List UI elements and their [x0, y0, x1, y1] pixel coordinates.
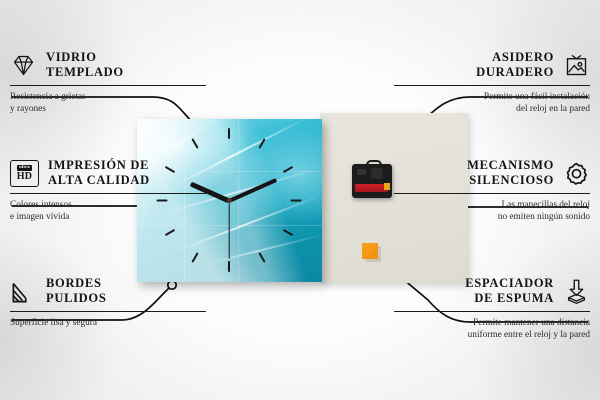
- feature-desc-line1: Resistencia a grietas: [10, 91, 206, 104]
- feature-desc-line2: e imagen vívida: [10, 211, 206, 224]
- feature-divider: [10, 85, 206, 86]
- feature-desc-line1: Las manecillas del reloj: [394, 199, 590, 212]
- feature-divider: [394, 193, 590, 194]
- gear-icon: [563, 160, 590, 187]
- feature-title-line1: IMPRESIÓN DE: [48, 158, 150, 173]
- feature-desc-line2: uniforme entre el reloj y la pared: [394, 329, 590, 342]
- feature-title-line1: VIDRIO: [46, 50, 124, 65]
- feature-mecanismo-silencioso: MECANISMO SILENCIOSO Las manecillas del …: [394, 158, 590, 224]
- feature-title-line2: DE ESPUMA: [465, 291, 554, 306]
- feature-vidrio-templado: VIDRIO TEMPLADO Resistencia a grietas y …: [10, 50, 206, 116]
- feature-desc-line2: no emiten ningún sonido: [394, 211, 590, 224]
- feature-title-line2: DURADERO: [476, 65, 554, 80]
- feature-desc-line1: Colores intensos: [10, 199, 206, 212]
- picture-hanger-icon: [563, 52, 590, 79]
- mechanism-detail-left: [357, 169, 366, 175]
- feature-title-line2: PULIDOS: [46, 291, 106, 306]
- clock-second-hand: [228, 201, 229, 259]
- foam-spacer-arrow-icon: [563, 278, 590, 305]
- feature-desc-line2: del reloj en la pared: [394, 103, 590, 116]
- mechanism-detail-right: [371, 168, 383, 179]
- feature-title-line1: ASIDERO: [476, 50, 554, 65]
- feature-title-line1: BORDES: [46, 276, 106, 291]
- feature-divider: [10, 311, 206, 312]
- feature-title-line2: TEMPLADO: [46, 65, 124, 80]
- hd-badge-top-label: ultra: [17, 165, 32, 171]
- clock-mechanism: [352, 160, 392, 198]
- feature-desc-line1: Permite una fácil instalación: [394, 91, 590, 104]
- feature-desc-line1: Superficie lisa y segura: [10, 317, 206, 330]
- feature-desc-line1: Permite mantener una distancia: [394, 317, 590, 330]
- feature-title-line2: SILENCIOSO: [467, 173, 554, 188]
- feature-bordes-pulidos: BORDES PULIDOS Superficie lisa y segura: [10, 276, 206, 329]
- hd-badge-main-label: HD: [17, 172, 33, 182]
- feature-divider: [394, 85, 590, 86]
- feature-asidero-duradero: ASIDERO DURADERO Permite una fácil insta…: [394, 50, 590, 116]
- ultra-hd-badge-icon: ultra HD: [10, 160, 39, 187]
- feature-impresion-alta-calidad: ultra HD IMPRESIÓN DE ALTA CALIDAD Color…: [10, 158, 206, 224]
- feature-title-line2: ALTA CALIDAD: [48, 173, 150, 188]
- product-infographic: VIDRIO TEMPLADO Resistencia a grietas y …: [0, 0, 600, 400]
- feature-espaciador-de-espuma: ESPACIADOR DE ESPUMA Permite mantener un…: [394, 276, 590, 342]
- feature-desc-line2: y rayones: [10, 103, 206, 116]
- polished-edges-icon: [10, 278, 37, 305]
- battery-positive-terminal: [384, 183, 390, 190]
- foam-spacer-pad: [362, 243, 378, 259]
- feature-divider: [10, 193, 206, 194]
- clock-hub: [227, 198, 232, 203]
- feature-divider: [394, 311, 590, 312]
- feature-title-line1: ESPACIADOR: [465, 276, 554, 291]
- diamond-icon: [10, 52, 37, 79]
- feature-title-line1: MECANISMO: [467, 158, 554, 173]
